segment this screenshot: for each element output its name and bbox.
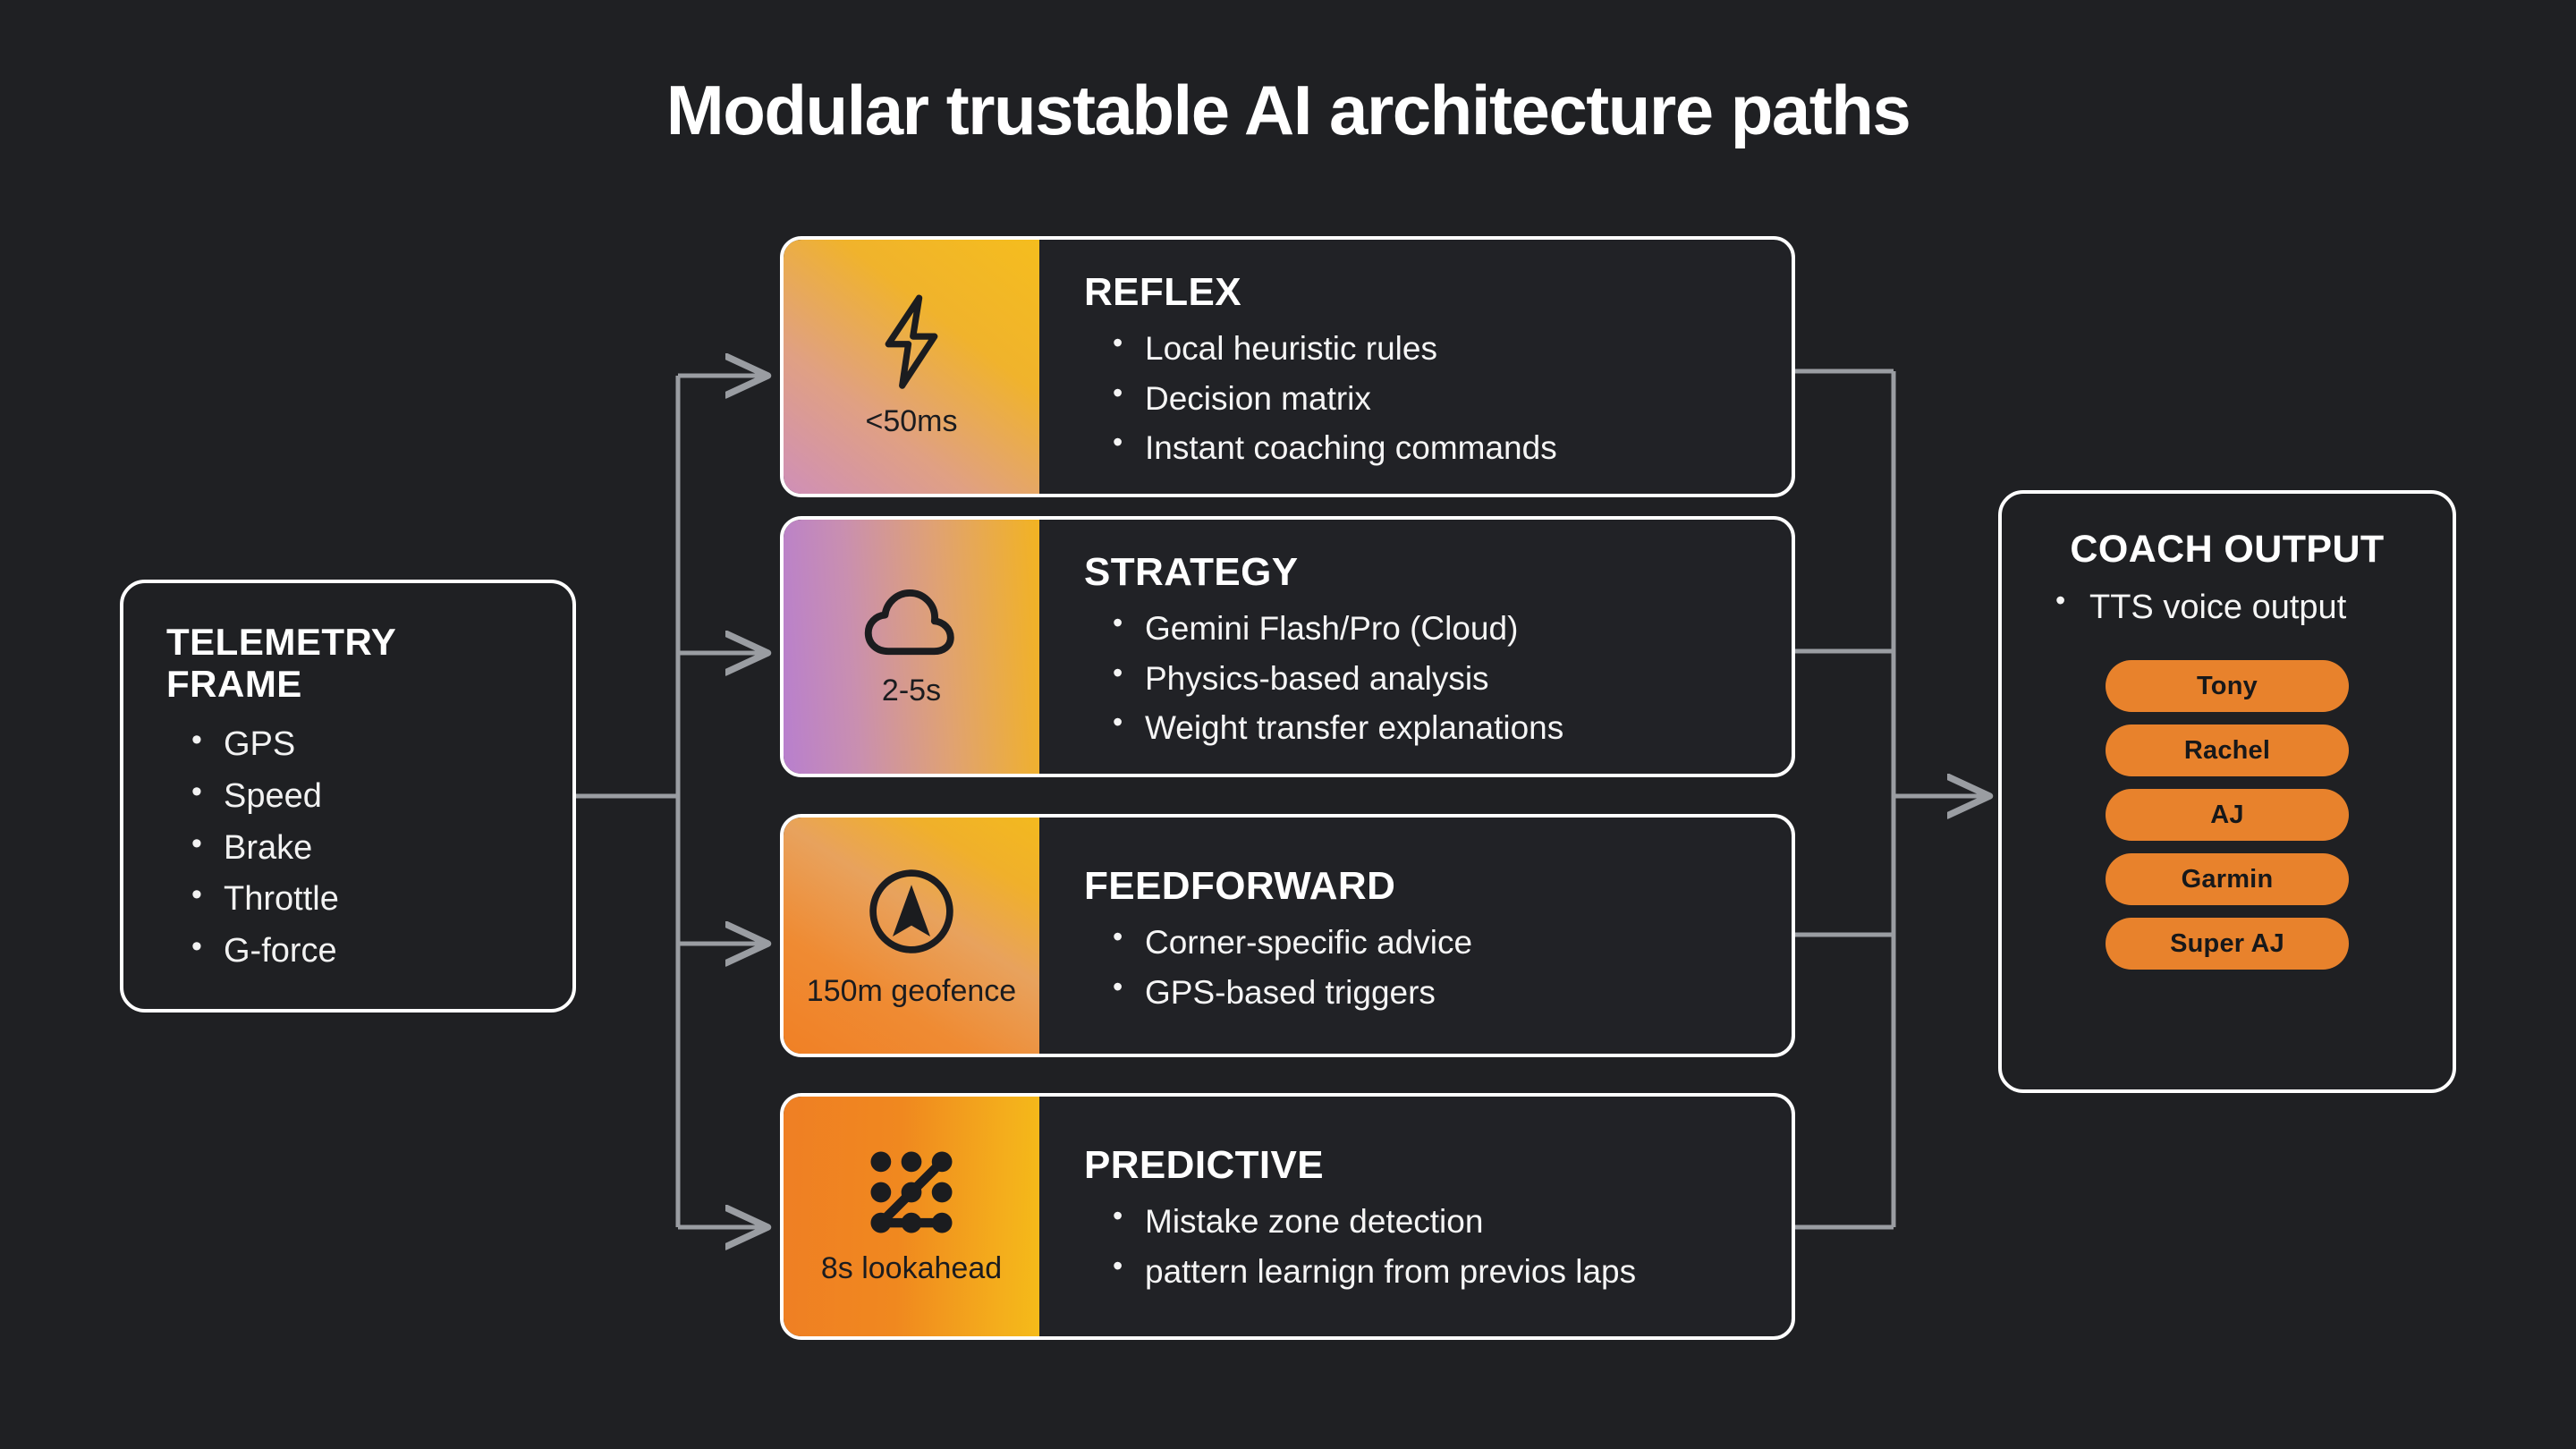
list-item: Gemini Flash/Pro (Cloud) [1111,604,1756,654]
list-item: TTS voice output [2052,584,2453,631]
telemetry-list: GPS Speed Brake Throttle G-force [188,719,572,978]
card-body: REFLEX Local heuristic rules Decision ma… [1039,240,1792,494]
list-item: Local heuristic rules [1111,324,1756,374]
card-body: STRATEGY Gemini Flash/Pro (Cloud) Physic… [1039,520,1792,774]
voice-pill-stack: Tony Rachel AJ Garmin Super AJ [2106,660,2349,970]
card-list: Local heuristic rules Decision matrix In… [1111,324,1756,473]
list-item: Speed [188,771,572,823]
card-body: PREDICTIVE Mistake zone detection patter… [1039,1097,1792,1336]
card-icon-panel: 8s lookahead [784,1097,1039,1336]
list-item: pattern learnign from previos laps [1111,1247,1756,1297]
coach-output-list: TTS voice output [2052,584,2453,631]
card-heading: FEEDFORWARD [1084,864,1756,909]
path-card-feedforward[interactable]: 150m geofence FEEDFORWARD Corner-specifi… [780,814,1795,1057]
voice-pill-rachel[interactable]: Rachel [2106,724,2349,776]
coach-output-box: COACH OUTPUT TTS voice output Tony Rache… [1998,490,2456,1093]
scatter-trend-icon [865,1146,958,1239]
list-item: Decision matrix [1111,374,1756,424]
card-icon-panel: 2-5s [784,520,1039,774]
list-item: Mistake zone detection [1111,1197,1756,1247]
voice-pill-super-aj[interactable]: Super AJ [2106,918,2349,970]
list-item: Physics-based analysis [1111,654,1756,704]
card-list: Gemini Flash/Pro (Cloud) Physics-based a… [1111,604,1756,753]
path-card-strategy[interactable]: 2-5s STRATEGY Gemini Flash/Pro (Cloud) P… [780,516,1795,777]
list-item: Throttle [188,874,572,926]
card-icon-panel: 150m geofence [784,818,1039,1054]
card-body: FEEDFORWARD Corner-specific advice GPS-b… [1039,818,1792,1054]
card-caption: 2-5s [882,674,941,708]
cloud-icon [859,584,964,661]
list-item: Corner-specific advice [1111,918,1756,968]
card-caption: 150m geofence [807,974,1016,1009]
telemetry-frame-box: TELEMETRY FRAME GPS Speed Brake Throttle… [120,580,576,1013]
list-item: Brake [188,823,572,875]
list-item: Instant coaching commands [1111,423,1756,473]
voice-pill-tony[interactable]: Tony [2106,660,2349,712]
lightning-bolt-icon [870,293,953,392]
list-item: GPS-based triggers [1111,968,1756,1018]
list-item: Weight transfer explanations [1111,703,1756,753]
navigation-compass-icon [861,861,962,962]
voice-pill-garmin[interactable]: Garmin [2106,853,2349,905]
telemetry-title: TELEMETRY FRAME [166,621,453,705]
list-item: G-force [188,926,572,978]
coach-output-title: COACH OUTPUT [2002,528,2453,572]
card-heading: PREDICTIVE [1084,1143,1756,1188]
card-caption: <50ms [866,404,958,439]
path-card-predictive[interactable]: 8s lookahead PREDICTIVE Mistake zone det… [780,1093,1795,1340]
list-item: GPS [188,719,572,771]
card-heading: REFLEX [1084,270,1756,315]
card-caption: 8s lookahead [821,1251,1002,1286]
page-title: Modular trustable AI architecture paths [0,70,2576,151]
card-list: Mistake zone detection pattern learnign … [1111,1197,1756,1296]
path-card-reflex[interactable]: <50ms REFLEX Local heuristic rules Decis… [780,236,1795,497]
card-icon-panel: <50ms [784,240,1039,494]
card-heading: STRATEGY [1084,550,1756,595]
voice-pill-aj[interactable]: AJ [2106,789,2349,841]
card-list: Corner-specific advice GPS-based trigger… [1111,918,1756,1017]
diagram-canvas: Modular trustable AI architecture paths [0,0,2576,1449]
